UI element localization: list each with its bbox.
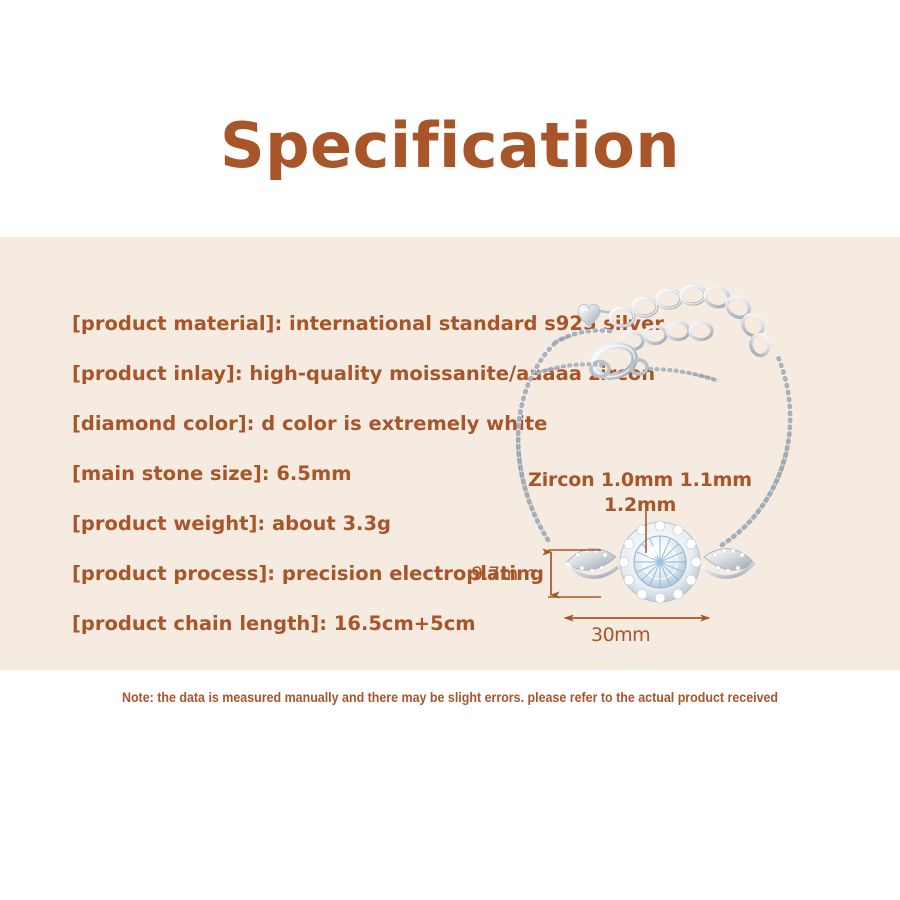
zircon-size-line-1: Zircon 1.0mm 1.1mm [520,468,760,493]
zircon-size-label: Zircon 1.0mm 1.1mm 1.2mm [520,468,760,518]
center-stone [634,536,686,588]
footer-note-section: Note: the data is measured manually and … [0,670,900,900]
height-dimension-label: 9.7mm [471,563,536,585]
extender-chain [610,285,771,357]
pendant-left-band [566,549,618,577]
width-dimension-label: 30mm [591,624,650,646]
product-image [460,245,860,655]
heart-charm [578,304,600,327]
extender-chain-lower [621,323,712,350]
measurement-note: Note: the data is measured manually and … [32,690,869,705]
pendant-right-band [702,549,754,577]
title-section: Specification [0,0,900,237]
page-title: Specification [0,112,900,180]
zircon-size-line-2: 1.2mm [520,493,760,518]
specification-page: Specification [product material]: intern… [0,0,900,900]
